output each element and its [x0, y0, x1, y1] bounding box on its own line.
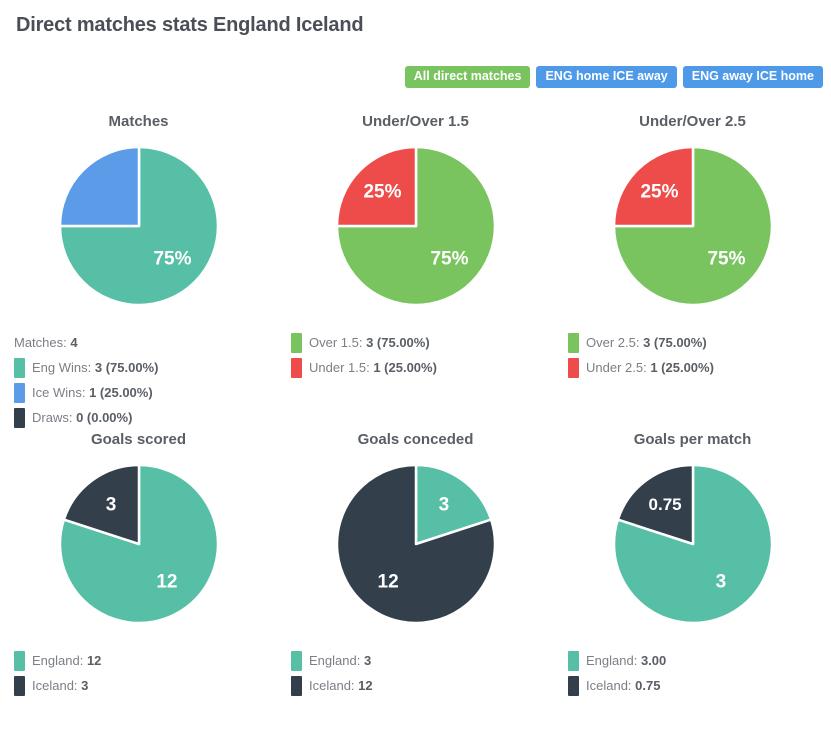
pie-chart: 312 — [277, 456, 554, 636]
pie-slice-label: 12 — [156, 571, 177, 592]
chart-title: Under/Over 1.5 — [277, 112, 554, 132]
pie-slice-label: 75% — [707, 249, 745, 270]
pie-slice-label: 75% — [430, 249, 468, 270]
legend-key: Eng Wins: — [32, 360, 95, 375]
legend-key: England: — [32, 653, 87, 668]
legend-key: Draws: — [32, 410, 76, 425]
legend-value: 12 — [358, 678, 372, 693]
legend-label: England: 3.00 — [586, 648, 666, 673]
legend-label: Iceland: 0.75 — [586, 673, 660, 698]
legend-item[interactable]: Ice Wins: 1 (25.00%) — [14, 380, 277, 405]
pie-chart: 75% — [0, 138, 277, 318]
pie-slice-label: 25% — [363, 182, 401, 203]
chart-cell-1: Under/Over 1.575%25%Over 1.5: 3 (75.00%)… — [277, 112, 554, 430]
legend-swatch-icon — [14, 651, 25, 671]
legend-swatch-icon — [14, 358, 25, 378]
page-title: Direct matches stats England Iceland — [16, 14, 363, 37]
legend-item[interactable]: Under 2.5: 1 (25.00%) — [568, 355, 831, 380]
legend-key: Ice Wins: — [32, 385, 89, 400]
chart-legend: Over 2.5: 3 (75.00%)Under 2.5: 1 (25.00%… — [554, 318, 831, 380]
chart-legend: England: 3Iceland: 12 — [277, 636, 554, 698]
legend-summary: Matches: 4 — [14, 330, 277, 355]
pie-chart: 30.75 — [554, 456, 831, 636]
legend-value: 12 — [87, 653, 101, 668]
legend-key: Over 2.5: — [586, 335, 643, 350]
legend-swatch-icon — [14, 408, 25, 428]
legend-value: 3 — [81, 678, 88, 693]
legend-key: Iceland: — [32, 678, 81, 693]
pie-chart: 75%25% — [277, 138, 554, 318]
legend-item[interactable]: Iceland: 12 — [291, 673, 554, 698]
legend-key: Under 1.5: — [309, 360, 373, 375]
legend-label: Under 2.5: 1 (25.00%) — [586, 355, 714, 380]
filter-button-group: All direct matchesENG home ICE awayENG a… — [403, 66, 823, 88]
legend-value: 1 (25.00%) — [373, 360, 437, 375]
pie-chart: 123 — [0, 456, 277, 636]
legend-key: Iceland: — [309, 678, 358, 693]
filter-button-0[interactable]: All direct matches — [405, 66, 531, 88]
legend-label: Ice Wins: 1 (25.00%) — [32, 380, 153, 405]
legend-item[interactable]: England: 3.00 — [568, 648, 831, 673]
legend-label: Over 1.5: 3 (75.00%) — [309, 330, 430, 355]
pie-slice-label: 0.75 — [648, 495, 681, 514]
pie-slice-label: 12 — [377, 571, 398, 592]
chart-title: Under/Over 2.5 — [554, 112, 831, 132]
pie-slice-label: 3 — [438, 495, 449, 516]
pie-slice-ice-wins[interactable] — [60, 147, 139, 226]
legend-swatch-icon — [568, 651, 579, 671]
legend-key: England: — [586, 653, 641, 668]
legend-value: 0 (0.00%) — [76, 410, 132, 425]
legend-value: 3 (75.00%) — [366, 335, 430, 350]
legend-label: England: 3 — [309, 648, 371, 673]
chart-title: Goals per match — [554, 430, 831, 450]
legend-item[interactable]: Under 1.5: 1 (25.00%) — [291, 355, 554, 380]
chart-cell-0: Matches75%Matches: 4Eng Wins: 3 (75.00%)… — [0, 112, 277, 430]
chart-cell-2: Under/Over 2.575%25%Over 2.5: 3 (75.00%)… — [554, 112, 831, 430]
legend-item[interactable]: Draws: 0 (0.00%) — [14, 405, 277, 430]
legend-value: 1 (25.00%) — [89, 385, 153, 400]
legend-item[interactable]: Over 2.5: 3 (75.00%) — [568, 330, 831, 355]
legend-swatch-icon — [568, 333, 579, 353]
pie-slice-label: 25% — [640, 182, 678, 203]
chart-legend: England: 12Iceland: 3 — [0, 636, 277, 698]
legend-value: 3 (75.00%) — [643, 335, 707, 350]
legend-value: 3 — [364, 653, 371, 668]
pie-chart: 75%25% — [554, 138, 831, 318]
legend-item[interactable]: England: 3 — [291, 648, 554, 673]
chart-legend: Matches: 4Eng Wins: 3 (75.00%)Ice Wins: … — [0, 318, 277, 430]
legend-label: Under 1.5: 1 (25.00%) — [309, 355, 437, 380]
chart-title: Matches — [0, 112, 277, 132]
chart-legend: England: 3.00Iceland: 0.75 — [554, 636, 831, 698]
legend-label: Over 2.5: 3 (75.00%) — [586, 330, 707, 355]
chart-cell-4: Goals conceded312England: 3Iceland: 12 — [277, 430, 554, 698]
legend-label: Eng Wins: 3 (75.00%) — [32, 355, 158, 380]
legend-value: 3 (75.00%) — [95, 360, 159, 375]
legend-key: Under 2.5: — [586, 360, 650, 375]
legend-key: England: — [309, 653, 364, 668]
legend-swatch-icon — [568, 676, 579, 696]
pie-slice-label: 3 — [715, 571, 726, 592]
chart-row-0: Matches75%Matches: 4Eng Wins: 3 (75.00%)… — [0, 112, 831, 430]
legend-item[interactable]: Eng Wins: 3 (75.00%) — [14, 355, 277, 380]
legend-swatch-icon — [291, 676, 302, 696]
legend-item[interactable]: England: 12 — [14, 648, 277, 673]
charts-grid: Matches75%Matches: 4Eng Wins: 3 (75.00%)… — [0, 112, 831, 698]
legend-label: Draws: 0 (0.00%) — [32, 405, 132, 430]
legend-item[interactable]: Iceland: 3 — [14, 673, 277, 698]
legend-swatch-icon — [14, 676, 25, 696]
legend-swatch-icon — [291, 358, 302, 378]
legend-label: Iceland: 3 — [32, 673, 88, 698]
chart-cell-5: Goals per match30.75England: 3.00Iceland… — [554, 430, 831, 698]
legend-swatch-icon — [291, 651, 302, 671]
pie-slice-label: 75% — [153, 249, 191, 270]
chart-title: Goals scored — [0, 430, 277, 450]
filter-button-1[interactable]: ENG home ICE away — [536, 66, 676, 88]
legend-item[interactable]: Over 1.5: 3 (75.00%) — [291, 330, 554, 355]
legend-value: 0.75 — [635, 678, 660, 693]
filter-button-2[interactable]: ENG away ICE home — [683, 66, 823, 88]
chart-cell-3: Goals scored123England: 12Iceland: 3 — [0, 430, 277, 698]
legend-swatch-icon — [14, 383, 25, 403]
legend-key: Over 1.5: — [309, 335, 366, 350]
legend-summary-value: 4 — [70, 335, 77, 350]
chart-title: Goals conceded — [277, 430, 554, 450]
legend-label: Iceland: 12 — [309, 673, 373, 698]
legend-label: England: 12 — [32, 648, 101, 673]
pie-slice-label: 3 — [105, 495, 116, 516]
chart-legend: Over 1.5: 3 (75.00%)Under 1.5: 1 (25.00%… — [277, 318, 554, 380]
chart-row-1: Goals scored123England: 12Iceland: 3Goal… — [0, 430, 831, 698]
legend-key: Iceland: — [586, 678, 635, 693]
legend-swatch-icon — [568, 358, 579, 378]
legend-value: 3.00 — [641, 653, 666, 668]
legend-value: 1 (25.00%) — [650, 360, 714, 375]
legend-item[interactable]: Iceland: 0.75 — [568, 673, 831, 698]
legend-swatch-icon — [291, 333, 302, 353]
